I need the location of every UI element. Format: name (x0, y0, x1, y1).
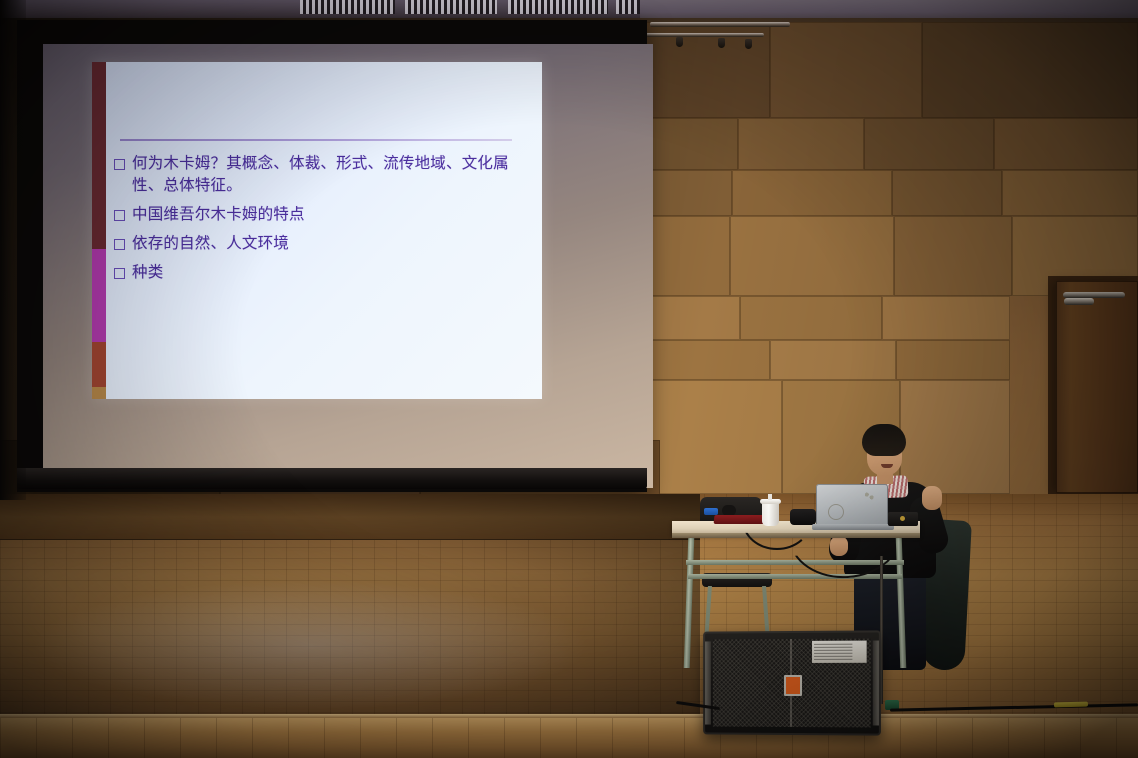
spotlight-icon (745, 39, 752, 49)
track-light-rail (646, 33, 764, 37)
wall-panel (640, 170, 732, 216)
stage-monitor-speaker[interactable] (703, 630, 881, 735)
slide-bullet-list: 何为木卡姆？其概念、体裁、形式、流传地域、文化属性、总体特征。中国维吾尔木卡姆的… (114, 152, 524, 290)
wall-panel (732, 170, 892, 216)
square-bullet-icon (114, 159, 125, 170)
door-closer-arm-icon (1064, 298, 1094, 305)
spotlight-icon (718, 38, 725, 48)
ceiling-vent-icon (405, 0, 497, 14)
wall-panel (894, 216, 1012, 296)
laptop-sticker-icon (828, 504, 844, 520)
speaker-spec-label-text (814, 644, 852, 660)
wall-panel (882, 296, 1010, 340)
slide-accent-segment-top (92, 62, 106, 249)
slide-bullet-text: 中国维吾尔木卡姆的特点 (132, 203, 305, 225)
projection-screen-bottom-bar (17, 468, 647, 489)
wall-panel (640, 380, 782, 494)
slide-divider-rule (120, 139, 512, 141)
blue-desk-object[interactable] (704, 508, 718, 515)
speaker-side-rail (873, 641, 879, 726)
wall-panel (640, 340, 770, 380)
slide-bullet-item: 依存的自然、人文环境 (114, 232, 524, 254)
wall-panel (922, 22, 1138, 118)
slide-bullet-item: 中国维吾尔木卡姆的特点 (114, 203, 524, 225)
slide-accent-segment-middle (92, 249, 106, 342)
wall-panel (738, 118, 864, 170)
left-edge-shadow (0, 0, 26, 500)
paper-cup-tab (768, 494, 772, 500)
power-strip-led-icon (900, 516, 905, 521)
laptop-base[interactable] (812, 524, 894, 530)
laptop-sticker-icon (858, 489, 880, 503)
wall-panel (740, 296, 882, 340)
stage-front-apron (0, 718, 1138, 758)
spotlight-icon (676, 37, 683, 47)
table-rail (688, 574, 902, 579)
wall-panel (640, 296, 740, 340)
stage-door[interactable] (1056, 281, 1138, 493)
wall-panel (892, 170, 1002, 216)
track-light-rail (650, 22, 790, 27)
presenter-gesturing-hand (922, 486, 942, 510)
wall-panel (994, 118, 1138, 170)
slide-accent-segment-lower (92, 342, 106, 387)
ceiling-vent-icon (300, 0, 395, 14)
jbl-logo-icon (784, 675, 802, 696)
presenter-hair (862, 424, 906, 456)
projected-slide: 何为木卡姆？其概念、体裁、形式、流传地域、文化属性、总体特征。中国维吾尔木卡姆的… (92, 62, 542, 399)
slide-bullet-text: 种类 (132, 261, 163, 283)
wall-panel (640, 118, 738, 170)
lecture-hall-photo: 何为木卡姆？其概念、体裁、形式、流传地域、文化属性、总体特征。中国维吾尔木卡姆的… (0, 0, 1138, 758)
wall-panel (730, 216, 894, 296)
slide-bullet-text: 何为木卡姆？其概念、体裁、形式、流传地域、文化属性、总体特征。 (132, 152, 524, 196)
square-bullet-icon (114, 210, 125, 221)
wall-panel (864, 118, 994, 170)
wall-panel (770, 22, 922, 118)
slide-bullet-text: 依存的自然、人文环境 (132, 232, 289, 254)
square-bullet-icon (114, 239, 125, 250)
cable-marker-tape (1054, 702, 1088, 708)
wall-panel (770, 340, 896, 380)
square-bullet-icon (114, 268, 125, 279)
slide-accent-band (92, 62, 106, 399)
slide-accent-segment-bottom (92, 387, 106, 399)
slide-bullet-item: 种类 (114, 261, 524, 283)
ceiling-vent-icon (508, 0, 608, 14)
wall-panel (640, 216, 730, 296)
speaker-side-rail (705, 641, 711, 724)
floor-shadow-overlay (0, 494, 700, 724)
wall-panel (896, 340, 1010, 380)
wall-panel (1002, 170, 1138, 216)
slide-bullet-item: 何为木卡姆？其概念、体裁、形式、流传地域、文化属性、总体特征。 (114, 152, 524, 196)
